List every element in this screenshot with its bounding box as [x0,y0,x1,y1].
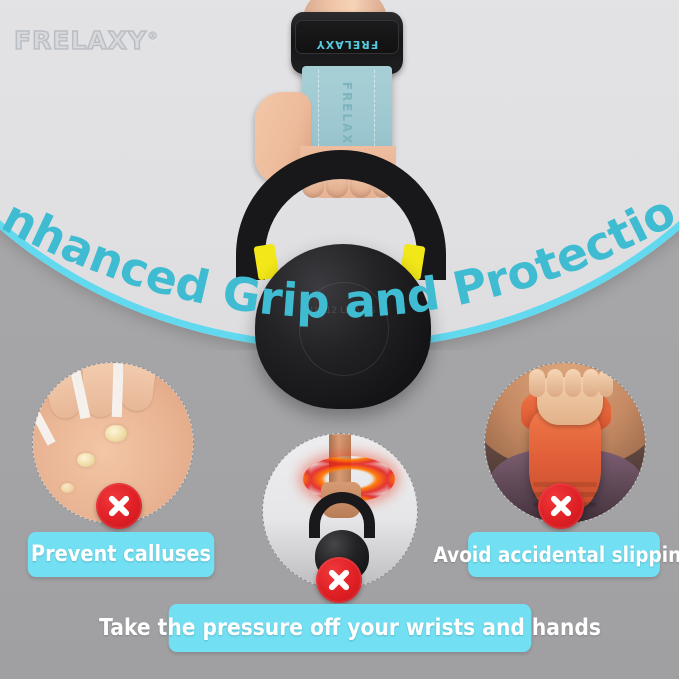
wrist-wrap: FRELAXY [291,12,403,74]
caption-avoid-slipping: Avoid accidental slipping [468,532,660,577]
callus [61,483,74,493]
finger [119,362,159,413]
callus [77,453,95,467]
caption-prevent-calluses: Prevent calluses [28,532,215,577]
kettlebell-weight-marking: US 12 LB 5 KG [311,306,376,317]
hero-product-photo: FRELAXY FRELAXY US 12 LB 5 KG [0,0,679,400]
kettlebell-body: US 12 LB 5 KG [255,244,431,409]
x-mark-icon-avoid-slipping [538,483,584,529]
callus [105,425,127,442]
caption-take-pressure-off: Take the pressure off your wrists and ha… [169,604,532,652]
finger-gap [112,362,125,417]
fingers [529,369,613,399]
wrist-wrap-brand-text: FRELAXY [291,38,403,51]
x-mark-icon-prevent-calluses [96,483,142,529]
x-mark-icon-wrist-pressure [316,557,362,603]
product-marketing-image: FRELAXY® FRELAXY FRELAXY US 12 LB 5 KG E… [0,0,679,679]
grip-pad-brand-text: FRELAXY [340,81,354,156]
